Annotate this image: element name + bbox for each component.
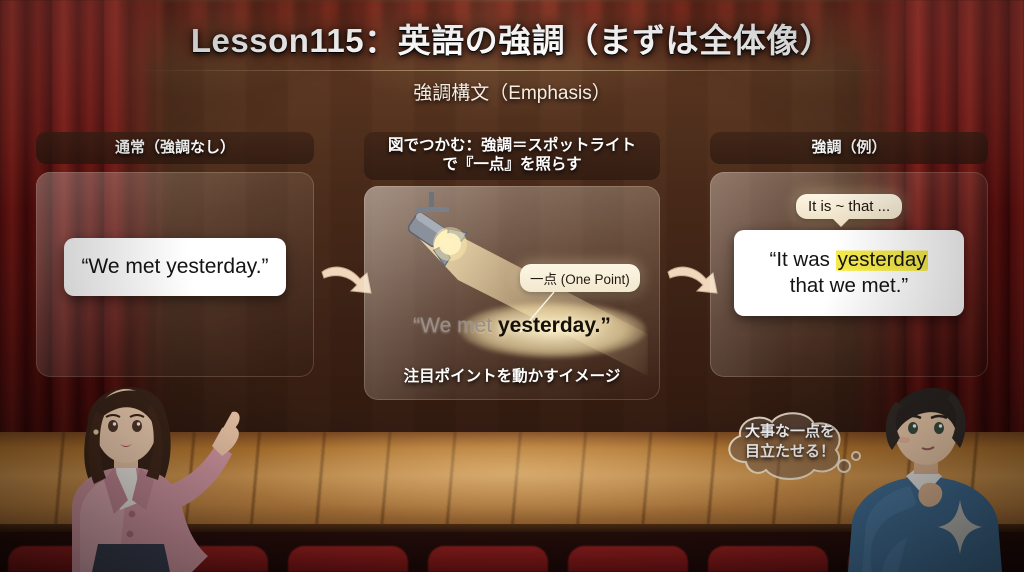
thought-line-1: 大事な一点を (726, 422, 854, 442)
page-subtitle: 強調構文（Emphasis） (0, 78, 1024, 105)
emphasis-highlight-text: yesterday (836, 248, 929, 271)
emphasis-line-1: “It was yesterday (770, 247, 929, 273)
panel-spotlight-heading-line1: 図でつかむ：強調＝スポットライト (388, 137, 636, 156)
it-is-that-bubble: It is ~ that ... (796, 194, 902, 219)
teacher-character (36, 368, 286, 572)
panel-emphasis: 強調（例） It is ~ that ... “It was yesterday… (710, 132, 988, 377)
panel-spotlight-heading-line2: で『一点』を照らす (388, 156, 636, 175)
spotlight-sentence: “We met yesterday.” (382, 314, 642, 338)
panel-normal-heading: 通常（強調なし） (36, 132, 314, 164)
panel-normal: 通常（強調なし） “We met yesterday.” (36, 132, 314, 377)
thought-bubble-text: 大事な一点を 目立たせる！ (726, 422, 854, 461)
emphasis-line-2: that we met.” (790, 273, 909, 299)
title-divider (132, 70, 892, 71)
panel-emphasis-heading: 強調（例） (710, 132, 988, 164)
panel-spotlight-caption: 注目ポイントを動かすイメージ (364, 364, 660, 386)
sentence-bright-part: yesterday.” (498, 314, 611, 337)
panel-spotlight-body: 一点 (One Point) “We met yesterday.” 注目ポイン… (364, 186, 660, 400)
sparkle-icon (938, 500, 982, 554)
panel-emphasis-body: It is ~ that ... “It was yesterday that … (710, 172, 988, 377)
sentence-card-normal: “We met yesterday.” (64, 238, 286, 296)
student-character (838, 372, 1024, 572)
slide-canvas: Lesson115：英語の強調（まずは全体像） 強調構文（Emphasis） 通… (0, 0, 1024, 572)
spotlight-fixture-icon (392, 192, 478, 278)
page-title: Lesson115：英語の強調（まずは全体像） (0, 14, 1024, 62)
sentence-dim-part: “We met (413, 314, 498, 337)
one-point-callout: 一点 (One Point) (520, 264, 640, 292)
panel-spotlight-heading: 図でつかむ：強調＝スポットライト で『一点』を照らす (364, 132, 660, 180)
emphasis-pre-text: “It was (770, 248, 836, 271)
title-block: Lesson115：英語の強調（まずは全体像） 強調構文（Emphasis） (0, 14, 1024, 105)
sentence-card-emphasis: “It was yesterday that we met.” (734, 230, 964, 316)
panel-normal-body: “We met yesterday.” (36, 172, 314, 377)
thought-line-2: 目立たせる！ (726, 442, 854, 462)
panel-spotlight: 図でつかむ：強調＝スポットライト で『一点』を照らす 一点 (364, 132, 660, 400)
